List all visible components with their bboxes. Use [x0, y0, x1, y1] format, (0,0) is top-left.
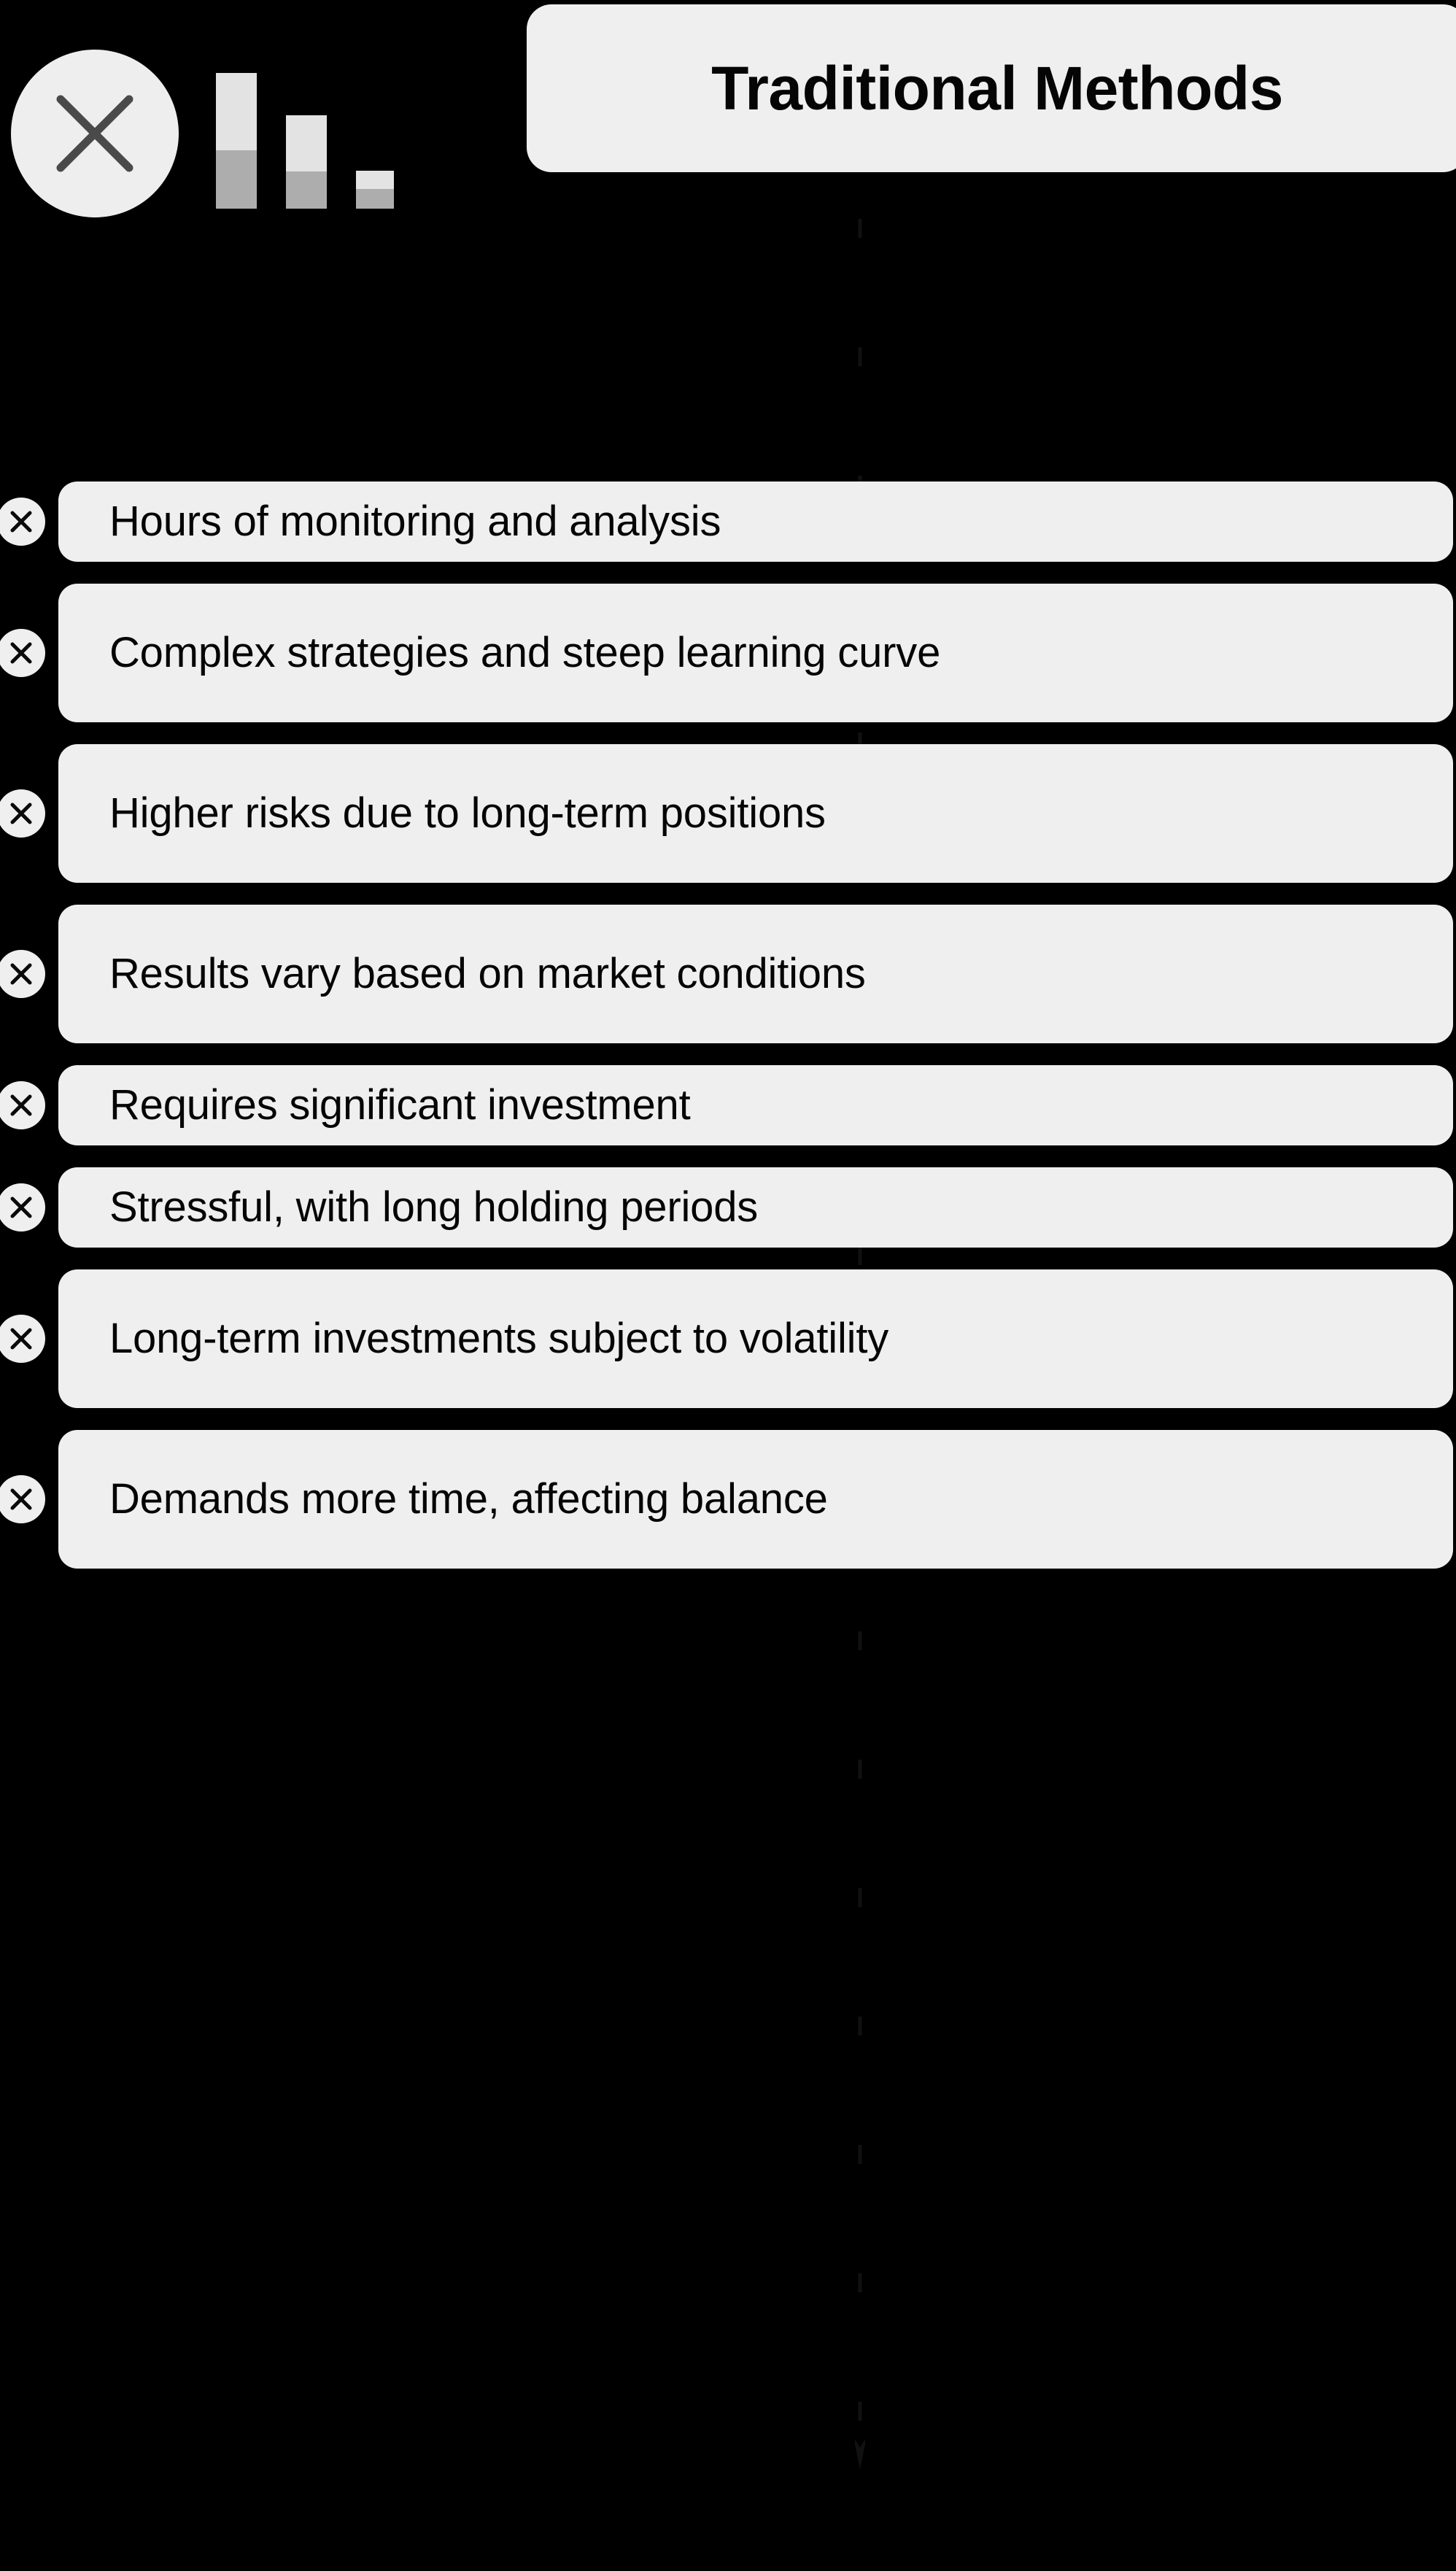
- list-item-pill: Higher risks due to long-term positions: [58, 744, 1453, 883]
- close-x-icon: [0, 1475, 45, 1523]
- list-item-label: Requires significant investment: [109, 1078, 691, 1134]
- list-item-label: Hours of monitoring and analysis: [109, 494, 721, 550]
- list-item-pill: Long-term investments subject to volatil…: [58, 1269, 1453, 1408]
- close-x-icon: [11, 50, 179, 217]
- list-item-badge: [0, 1183, 45, 1232]
- list-item[interactable]: Long-term investments subject to volatil…: [0, 1269, 1456, 1408]
- close-x-icon: [0, 789, 45, 838]
- list-item[interactable]: Demands more time, affecting balance: [0, 1430, 1456, 1569]
- list-item[interactable]: Complex strategies and steep learning cu…: [0, 584, 1456, 722]
- page-title: Traditional Methods: [711, 58, 1283, 119]
- header: Traditional Methods: [0, 0, 1456, 226]
- chart-bar-3-lower: [356, 189, 394, 209]
- list-item-badge: [0, 950, 45, 998]
- list-item-badge: [0, 1475, 45, 1523]
- list-item-badge: [0, 1315, 45, 1363]
- close-x-icon: [0, 1183, 45, 1232]
- chart-bar-2-lower: [286, 171, 327, 209]
- close-x-icon: [0, 1315, 45, 1363]
- list-item[interactable]: Requires significant investment: [0, 1065, 1456, 1145]
- list-item-pill: Stressful, with long holding periods: [58, 1167, 1453, 1248]
- close-button[interactable]: [11, 50, 179, 217]
- drawback-list: Hours of monitoring and analysis Complex…: [0, 482, 1456, 1590]
- chart-bar-2: [286, 115, 327, 209]
- close-x-icon: [0, 498, 45, 546]
- list-item-pill: Demands more time, affecting balance: [58, 1430, 1453, 1569]
- close-x-icon: [0, 629, 45, 677]
- list-item-badge: [0, 1081, 45, 1129]
- list-item-badge: [0, 498, 45, 546]
- list-item[interactable]: Stressful, with long holding periods: [0, 1167, 1456, 1248]
- chart-bar-3-upper: [356, 171, 394, 189]
- chart-bar-2-upper: [286, 115, 327, 171]
- close-x-icon: [0, 1081, 45, 1129]
- chart-bar-1-lower: [216, 150, 257, 209]
- list-item-badge: [0, 629, 45, 677]
- chart-bar-1: [216, 73, 257, 209]
- list-item-label: Results vary based on market conditions: [109, 946, 866, 1002]
- list-item-label: Higher risks due to long-term positions: [109, 786, 826, 842]
- list-item-pill: Hours of monitoring and analysis: [58, 482, 1453, 562]
- list-item-label: Demands more time, affecting balance: [109, 1472, 828, 1528]
- page-title-pill: Traditional Methods: [527, 4, 1456, 172]
- list-item-label: Stressful, with long holding periods: [109, 1180, 758, 1236]
- page-root: Traditional Methods Hours of monitoring …: [0, 0, 1456, 2571]
- list-item[interactable]: Higher risks due to long-term positions: [0, 744, 1456, 883]
- list-item-pill: Complex strategies and steep learning cu…: [58, 584, 1453, 722]
- downward-arrow-icon: [855, 2437, 865, 2470]
- chart-bar-1-upper: [216, 73, 257, 150]
- list-item[interactable]: Hours of monitoring and analysis: [0, 482, 1456, 562]
- list-item-label: Long-term investments subject to volatil…: [109, 1311, 888, 1367]
- chart-bar-3: [356, 171, 394, 209]
- list-item[interactable]: Results vary based on market conditions: [0, 905, 1456, 1043]
- descending-bar-chart-icon: [216, 50, 406, 209]
- list-item-pill: Requires significant investment: [58, 1065, 1453, 1145]
- list-item-label: Complex strategies and steep learning cu…: [109, 625, 940, 681]
- list-item-pill: Results vary based on market conditions: [58, 905, 1453, 1043]
- close-x-icon: [0, 950, 45, 998]
- list-item-badge: [0, 789, 45, 838]
